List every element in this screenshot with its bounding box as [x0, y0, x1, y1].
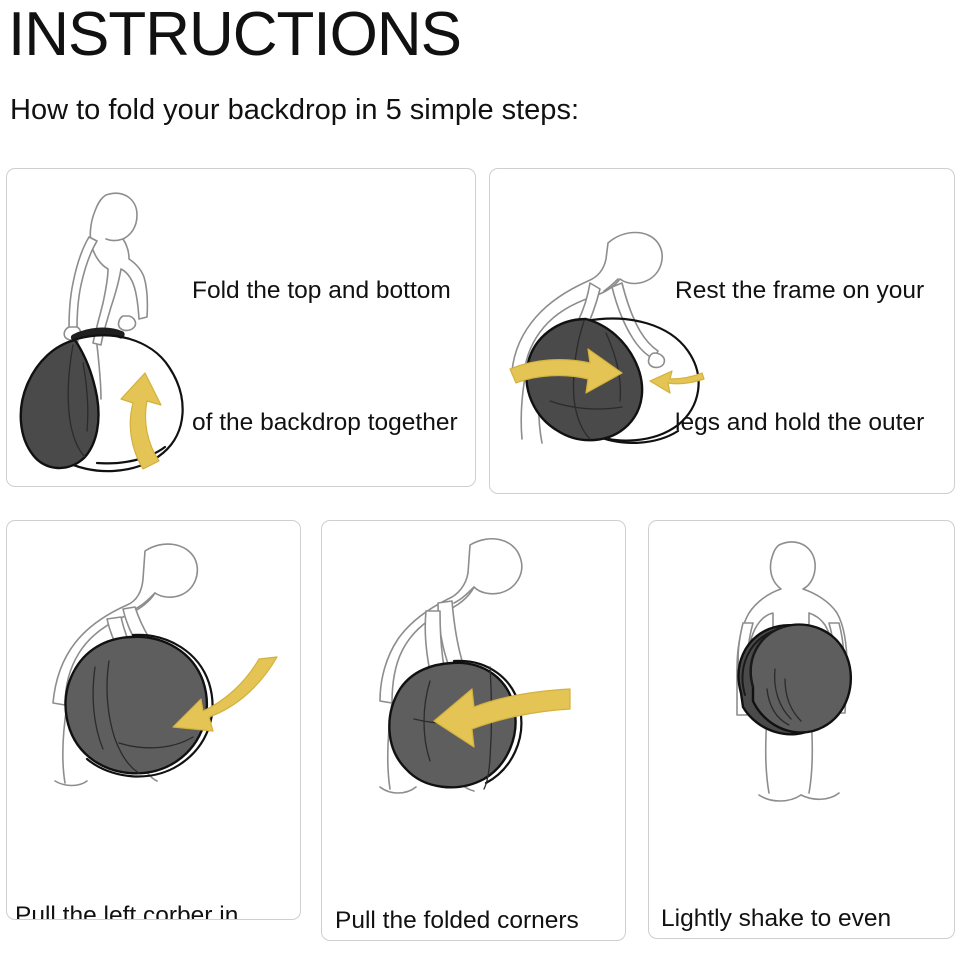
caption-line: Pull the left corber in	[15, 894, 282, 920]
step-panel-4: Pull the folded corners toward you and p…	[321, 520, 626, 941]
step-5-caption: Lightly shake to even the frame before s…	[661, 809, 921, 939]
step-3-illustration	[9, 525, 294, 810]
caption-line: Lightly shake to even	[661, 897, 921, 939]
step-3-caption: Pull the left corber in and over the rig…	[15, 806, 282, 920]
page-subtitle: How to fold your backdrop in 5 simple st…	[10, 96, 579, 125]
step-panel-1: Fold the top and bottom of the backdrop …	[6, 168, 476, 487]
step-5-illustration	[649, 527, 949, 817]
step-panel-3: Pull the left corber in and over the rig…	[6, 520, 301, 920]
step-1-caption: Fold the top and bottom of the backdrop …	[192, 181, 458, 487]
step-4-illustration	[322, 521, 622, 817]
step-4-caption: Pull the folded corners toward you and p…	[335, 811, 611, 941]
step-panel-2: Rest the frame on your legs and hold the…	[489, 168, 955, 494]
caption-line: Rest the frame on your	[675, 269, 924, 313]
caption-line: Pull the folded corners	[335, 899, 611, 941]
caption-line: Fold the top and bottom	[192, 269, 458, 313]
caption-line: legs and hold the outer	[675, 401, 924, 445]
step-2-caption: Rest the frame on your legs and hold the…	[675, 181, 924, 494]
step-panel-5: Lightly shake to even the frame before s…	[648, 520, 955, 939]
page-title: INSTRUCTIONS	[8, 4, 461, 66]
caption-line: of the backdrop together	[192, 401, 458, 445]
